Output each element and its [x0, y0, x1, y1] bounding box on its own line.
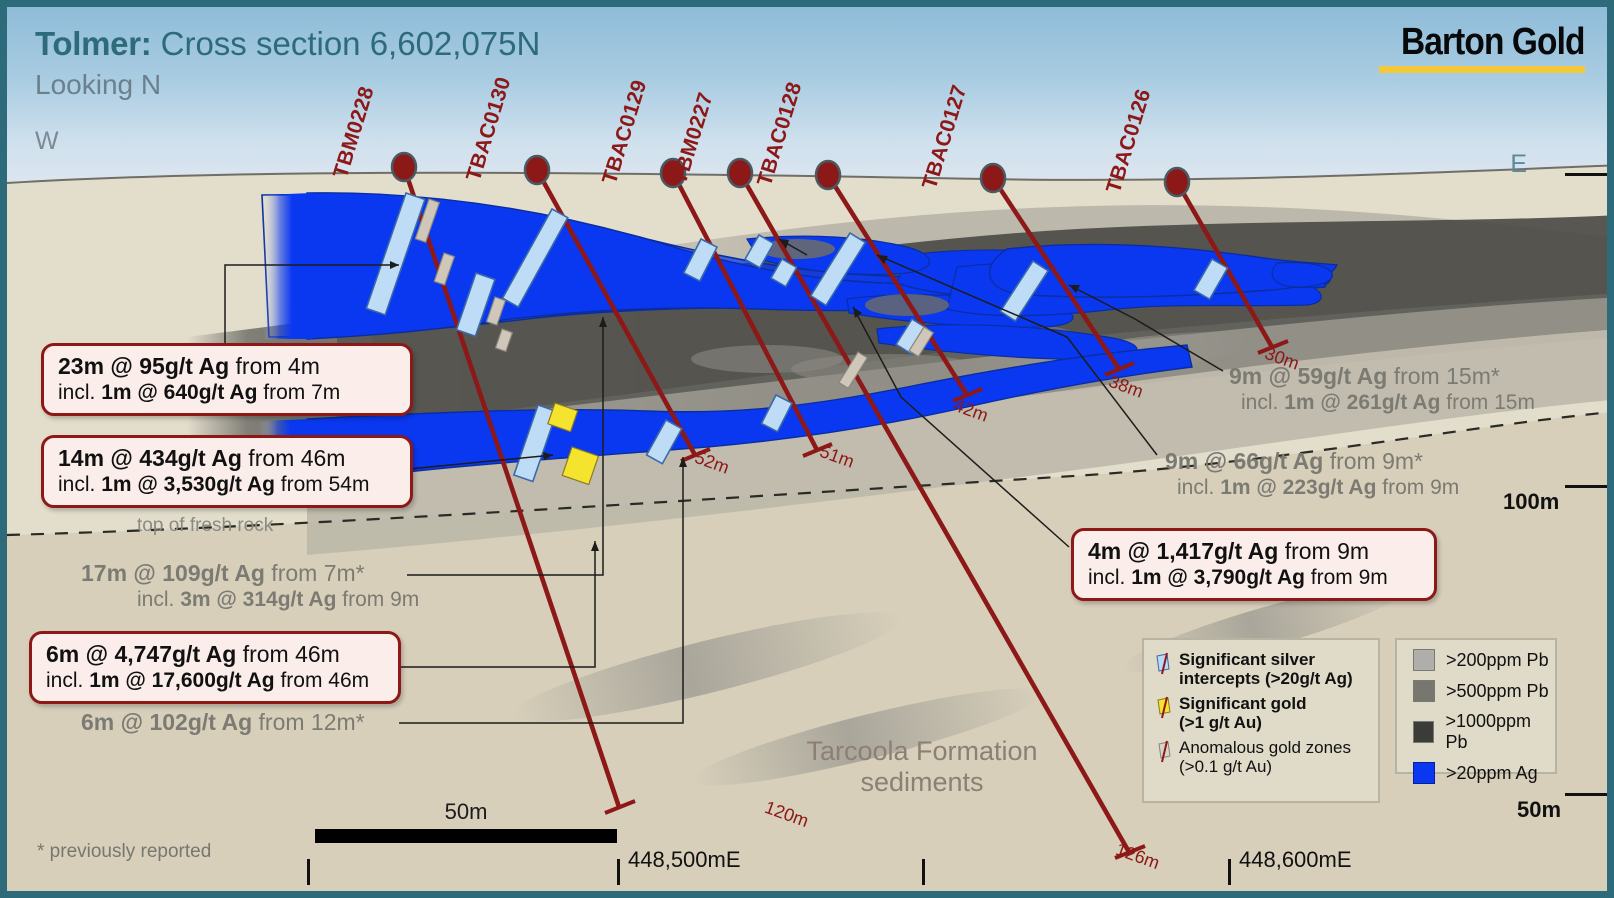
- legend-silver-line1: Significant silver: [1179, 650, 1315, 669]
- legend-gold-line2: (>1 g/t Au): [1179, 713, 1262, 732]
- callout-1-incl-pre: incl.: [58, 381, 101, 404]
- callout-1-from: from 4m: [229, 353, 320, 379]
- callout-3-incl-grade: 1m @ 17,600g/t Ag: [89, 669, 274, 692]
- grey-4-line-2: incl. 1m @ 223g/t Ag from 9m: [1177, 476, 1459, 500]
- easting-tick-mid: [617, 859, 620, 885]
- silver-intercept-icon: [1154, 652, 1174, 681]
- legend-anomalous-line1: Anomalous gold zones: [1179, 738, 1351, 757]
- grey-3-line-1: 9m @ 59g/t Ag from 15m*: [1229, 363, 1535, 390]
- callout-1-grade: 23m @ 95g/t Ag: [58, 353, 229, 379]
- callout-4-grade: 4m @ 1,417g/t Ag: [1088, 538, 1278, 564]
- swatch-20ppm-ag: [1413, 762, 1435, 784]
- grey-result-4: 9m @ 66g/t Ag from 9m* incl. 1m @ 223g/t…: [1165, 448, 1459, 500]
- grey-result-3: 9m @ 59g/t Ag from 15m* incl. 1m @ 261g/…: [1229, 363, 1535, 415]
- scale-bar: [315, 829, 617, 843]
- callout-line-2: incl. 1m @ 640g/t Ag from 7m: [58, 381, 396, 405]
- swatch-1000ppm-pb: [1413, 721, 1434, 743]
- grey-1-line-2: incl. 3m @ 314g/t Ag from 9m: [137, 588, 419, 612]
- easting-tick-left: [307, 859, 310, 885]
- legend-anomalous-line2: (>0.1 g/t Au): [1179, 757, 1272, 776]
- grey-3-line-2: incl. 1m @ 261g/t Ag from 15m: [1241, 391, 1535, 415]
- callout-line-1: 23m @ 95g/t Ag from 4m: [58, 353, 396, 380]
- grey-3-incl-pre: incl.: [1241, 391, 1284, 414]
- callout-4-incl-pre: incl.: [1088, 566, 1131, 589]
- legend-item-silver: Significant silver intercepts (>20g/t Ag…: [1154, 650, 1370, 688]
- east-label: E: [1510, 150, 1527, 179]
- elevation-tick-100m: [1565, 485, 1607, 488]
- easting-label-left: 448,500mE: [628, 847, 741, 873]
- callout-line-2: incl. 1m @ 3,790g/t Ag from 9m: [1088, 566, 1420, 590]
- callout-2-incl-from: from 54m: [275, 473, 370, 496]
- legend-swatch-row: >200ppm Pb: [1413, 649, 1555, 671]
- grey-3-incl-grade: 1m @ 261g/t Ag: [1284, 391, 1440, 414]
- swatch-label-500ppm-pb: >500ppm Pb: [1446, 681, 1549, 702]
- subtitle: Looking N: [35, 69, 161, 101]
- legend-swatch-row: >20ppm Ag: [1413, 762, 1555, 784]
- callout-2-incl-grade: 1m @ 3,530g/t Ag: [101, 473, 275, 496]
- grey-2-from: from 12m*: [252, 709, 364, 735]
- elevation-tick-top: [1565, 173, 1607, 176]
- callout-box-4: 4m @ 1,417g/t Ag from 9m incl. 1m @ 3,79…: [1071, 528, 1437, 601]
- grey-1-incl-grade: 3m @ 314g/t Ag: [180, 588, 336, 611]
- page-title: Tolmer: Cross section 6,602,075N: [35, 25, 540, 63]
- legend-silver-line2: intercepts (>20g/t Ag): [1179, 669, 1353, 688]
- callout-4-from: from 9m: [1278, 538, 1369, 564]
- swatch-200ppm-pb: [1413, 649, 1435, 671]
- callout-3-incl-pre: incl.: [46, 669, 89, 692]
- grey-3-from: from 15m*: [1387, 363, 1499, 389]
- legend-symbols-panel: Significant silver intercepts (>20g/t Ag…: [1142, 638, 1380, 803]
- callout-4-incl-from: from 9m: [1305, 566, 1388, 589]
- legend-anomalous-text: Anomalous gold zones (>0.1 g/t Au): [1179, 738, 1351, 776]
- fresh-rock-label: top of fresh rock: [137, 515, 273, 537]
- callout-2-grade: 14m @ 434g/t Ag: [58, 445, 242, 471]
- callout-2-from: from 46m: [242, 445, 346, 471]
- cross-section-figure: Tolmer: Cross section 6,602,075N Looking…: [0, 0, 1614, 898]
- callout-4-incl-grade: 1m @ 3,790g/t Ag: [1131, 566, 1305, 589]
- easting-label-right: 448,600mE: [1239, 847, 1352, 873]
- grey-3-grade: 9m @ 59g/t Ag: [1229, 363, 1387, 389]
- grey-result-1: 17m @ 109g/t Ag from 7m* incl. 3m @ 314g…: [81, 560, 419, 612]
- swatch-label-200ppm-pb: >200ppm Pb: [1446, 650, 1549, 671]
- grey-4-grade: 9m @ 66g/t Ag: [1165, 448, 1323, 474]
- callout-line-2: incl. 1m @ 3,530g/t Ag from 54m: [58, 473, 396, 497]
- anomalous-gold-icon: [1154, 740, 1174, 769]
- grey-1-grade: 17m @ 109g/t Ag: [81, 560, 265, 586]
- logo-text: Barton Gold: [1401, 21, 1585, 64]
- formation-label: Tarcoola Formation sediments: [802, 736, 1042, 798]
- callout-1-incl-grade: 1m @ 640g/t Ag: [101, 381, 257, 404]
- formation-line-1: Tarcoola Formation: [802, 736, 1042, 767]
- swatch-500ppm-pb: [1413, 680, 1435, 702]
- title-bold: Tolmer:: [35, 25, 151, 62]
- grey-3-incl-from: from 15m: [1440, 391, 1535, 414]
- elevation-label-100m: 100m: [1503, 489, 1559, 515]
- legend-item-gold: Significant gold (>1 g/t Au): [1154, 694, 1370, 732]
- grey-1-incl-pre: incl.: [137, 588, 180, 611]
- callout-line-1: 4m @ 1,417g/t Ag from 9m: [1088, 538, 1420, 565]
- callout-line-1: 6m @ 4,747g/t Ag from 46m: [46, 641, 384, 668]
- grey-4-from: from 9m*: [1323, 448, 1423, 474]
- grey-2-grade: 6m @ 102g/t Ag: [81, 709, 252, 735]
- grey-1-incl-from: from 9m: [336, 588, 419, 611]
- legend-gold-text: Significant gold (>1 g/t Au): [1179, 694, 1307, 732]
- legend-gold-line1: Significant gold: [1179, 694, 1307, 713]
- scale-bar-label: 50m: [315, 799, 617, 825]
- legend-silver-text: Significant silver intercepts (>20g/t Ag…: [1179, 650, 1353, 688]
- title-rest: Cross section 6,602,075N: [151, 25, 540, 62]
- callout-box-2: 14m @ 434g/t Ag from 46m incl. 1m @ 3,53…: [41, 435, 413, 508]
- grey-4-line-1: 9m @ 66g/t Ag from 9m*: [1165, 448, 1459, 475]
- legend-swatch-row: >500ppm Pb: [1413, 680, 1555, 702]
- gold-intercept-icon: [1154, 696, 1174, 725]
- easting-tick-right: [1228, 859, 1231, 885]
- easting-tick-mid2: [922, 859, 925, 885]
- legend-item-anomalous: Anomalous gold zones (>0.1 g/t Au): [1154, 738, 1370, 776]
- callout-1-incl-from: from 7m: [257, 381, 340, 404]
- grey-2-line-1: 6m @ 102g/t Ag from 12m*: [81, 709, 365, 736]
- grey-4-incl-grade: 1m @ 223g/t Ag: [1220, 476, 1376, 499]
- west-label: W: [35, 127, 59, 156]
- grey-4-incl-pre: incl.: [1177, 476, 1220, 499]
- swatch-label-1000ppm-pb: >1000ppm Pb: [1445, 711, 1555, 753]
- elevation-tick-50m: [1565, 793, 1607, 796]
- callout-line-2: incl. 1m @ 17,600g/t Ag from 46m: [46, 669, 384, 693]
- grey-result-2: 6m @ 102g/t Ag from 12m*: [81, 709, 365, 736]
- callout-3-from: from 46m: [236, 641, 340, 667]
- callout-3-incl-from: from 46m: [275, 669, 370, 692]
- grey-1-line-1: 17m @ 109g/t Ag from 7m*: [81, 560, 419, 587]
- callout-3-grade: 6m @ 4,747g/t Ag: [46, 641, 236, 667]
- legend-swatches-panel: >200ppm Pb >500ppm Pb >1000ppm Pb >20ppm…: [1395, 638, 1557, 774]
- callout-box-3: 6m @ 4,747g/t Ag from 46m incl. 1m @ 17,…: [29, 631, 401, 704]
- swatch-label-20ppm-ag: >20ppm Ag: [1446, 763, 1538, 784]
- elevation-label-50m: 50m: [1517, 797, 1561, 823]
- callout-box-1: 23m @ 95g/t Ag from 4m incl. 1m @ 640g/t…: [41, 343, 413, 416]
- logo-underline: [1379, 66, 1585, 73]
- callout-2-incl-pre: incl.: [58, 473, 101, 496]
- grey-1-from: from 7m*: [265, 560, 365, 586]
- callout-line-1: 14m @ 434g/t Ag from 46m: [58, 445, 396, 472]
- grey-4-incl-from: from 9m: [1376, 476, 1459, 499]
- company-logo: Barton Gold: [1376, 21, 1585, 73]
- formation-line-2: sediments: [802, 767, 1042, 798]
- legend-swatch-row: >1000ppm Pb: [1413, 711, 1555, 753]
- footnote: * previously reported: [37, 841, 211, 863]
